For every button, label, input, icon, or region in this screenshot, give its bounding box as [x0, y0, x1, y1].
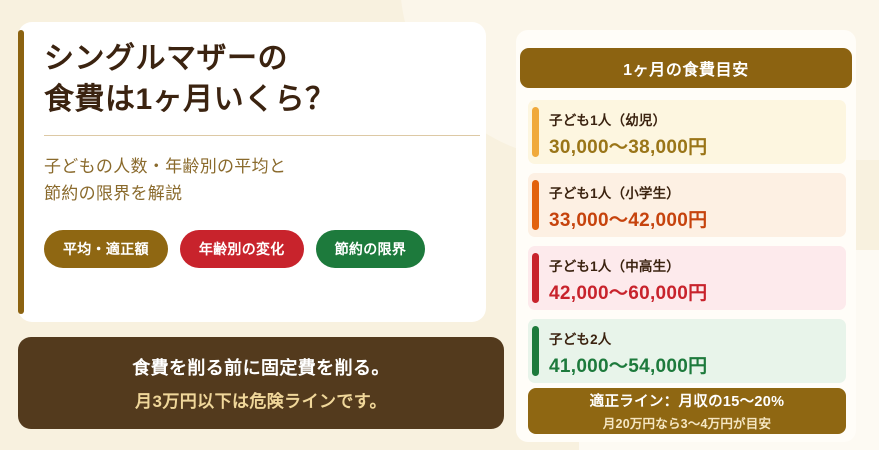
guideline-main-text: 適正ライン：月収の15〜20%	[590, 390, 785, 411]
cost-row: 子ども2人41,000〜54,000円	[528, 319, 846, 383]
cost-row-label: 子ども2人	[549, 328, 834, 348]
cost-row-label: 子ども1人（中高生）	[549, 255, 834, 275]
cost-row-accent-bar	[532, 253, 539, 303]
advice-banner-line2: 月3万円以下は危険ラインです。	[135, 387, 387, 412]
tag-pill[interactable]: 年齢別の変化	[180, 230, 304, 268]
cost-row-label: 子ども1人（幼児）	[549, 109, 834, 129]
cost-row-amount: 42,000〜60,000円	[549, 278, 834, 305]
tag-pill[interactable]: 平均・適正額	[44, 230, 168, 268]
cost-row-amount: 33,000〜42,000円	[549, 205, 834, 232]
cost-row-accent-bar	[532, 326, 539, 376]
guideline-sub-text: 月20万円なら3〜4万円が目安	[603, 413, 771, 432]
hero-content: シングルマザーの 食費は1ヶ月いくら？ 子どもの人数・年齢別の平均と 節約の限界…	[44, 38, 474, 268]
hero-accent-bar	[18, 30, 24, 314]
cost-row: 子ども1人（小学生）33,000〜42,000円	[528, 173, 846, 237]
cost-row-accent-bar	[532, 107, 539, 157]
cost-panel-title: 1ヶ月の食費目安	[623, 56, 749, 80]
guideline-box: 適正ライン：月収の15〜20% 月20万円なら3〜4万円が目安	[528, 388, 846, 434]
tag-pill[interactable]: 節約の限界	[316, 230, 426, 268]
page-title: シングルマザーの 食費は1ヶ月いくら？	[44, 38, 474, 121]
page-subtitle: 子どもの人数・年齢別の平均と 節約の限界を解説	[44, 153, 474, 208]
cost-row-list: 子ども1人（幼児）30,000〜38,000円子ども1人（小学生）33,000〜…	[528, 100, 846, 383]
cost-row: 子ども1人（中高生）42,000〜60,000円	[528, 246, 846, 310]
cost-row: 子ども1人（幼児）30,000〜38,000円	[528, 100, 846, 164]
cost-row-amount: 41,000〜54,000円	[549, 351, 834, 378]
cost-row-accent-bar	[532, 180, 539, 230]
advice-banner-line1: 食費を削る前に固定費を削る。	[132, 354, 390, 380]
title-divider	[44, 135, 480, 136]
advice-banner: 食費を削る前に固定費を削る。 月3万円以下は危険ラインです。	[18, 337, 504, 429]
cost-row-label: 子ども1人（小学生）	[549, 182, 834, 202]
tag-list: 平均・適正額年齢別の変化節約の限界	[44, 230, 474, 268]
cost-panel-header: 1ヶ月の食費目安	[520, 48, 852, 88]
cost-row-amount: 30,000〜38,000円	[549, 132, 834, 159]
